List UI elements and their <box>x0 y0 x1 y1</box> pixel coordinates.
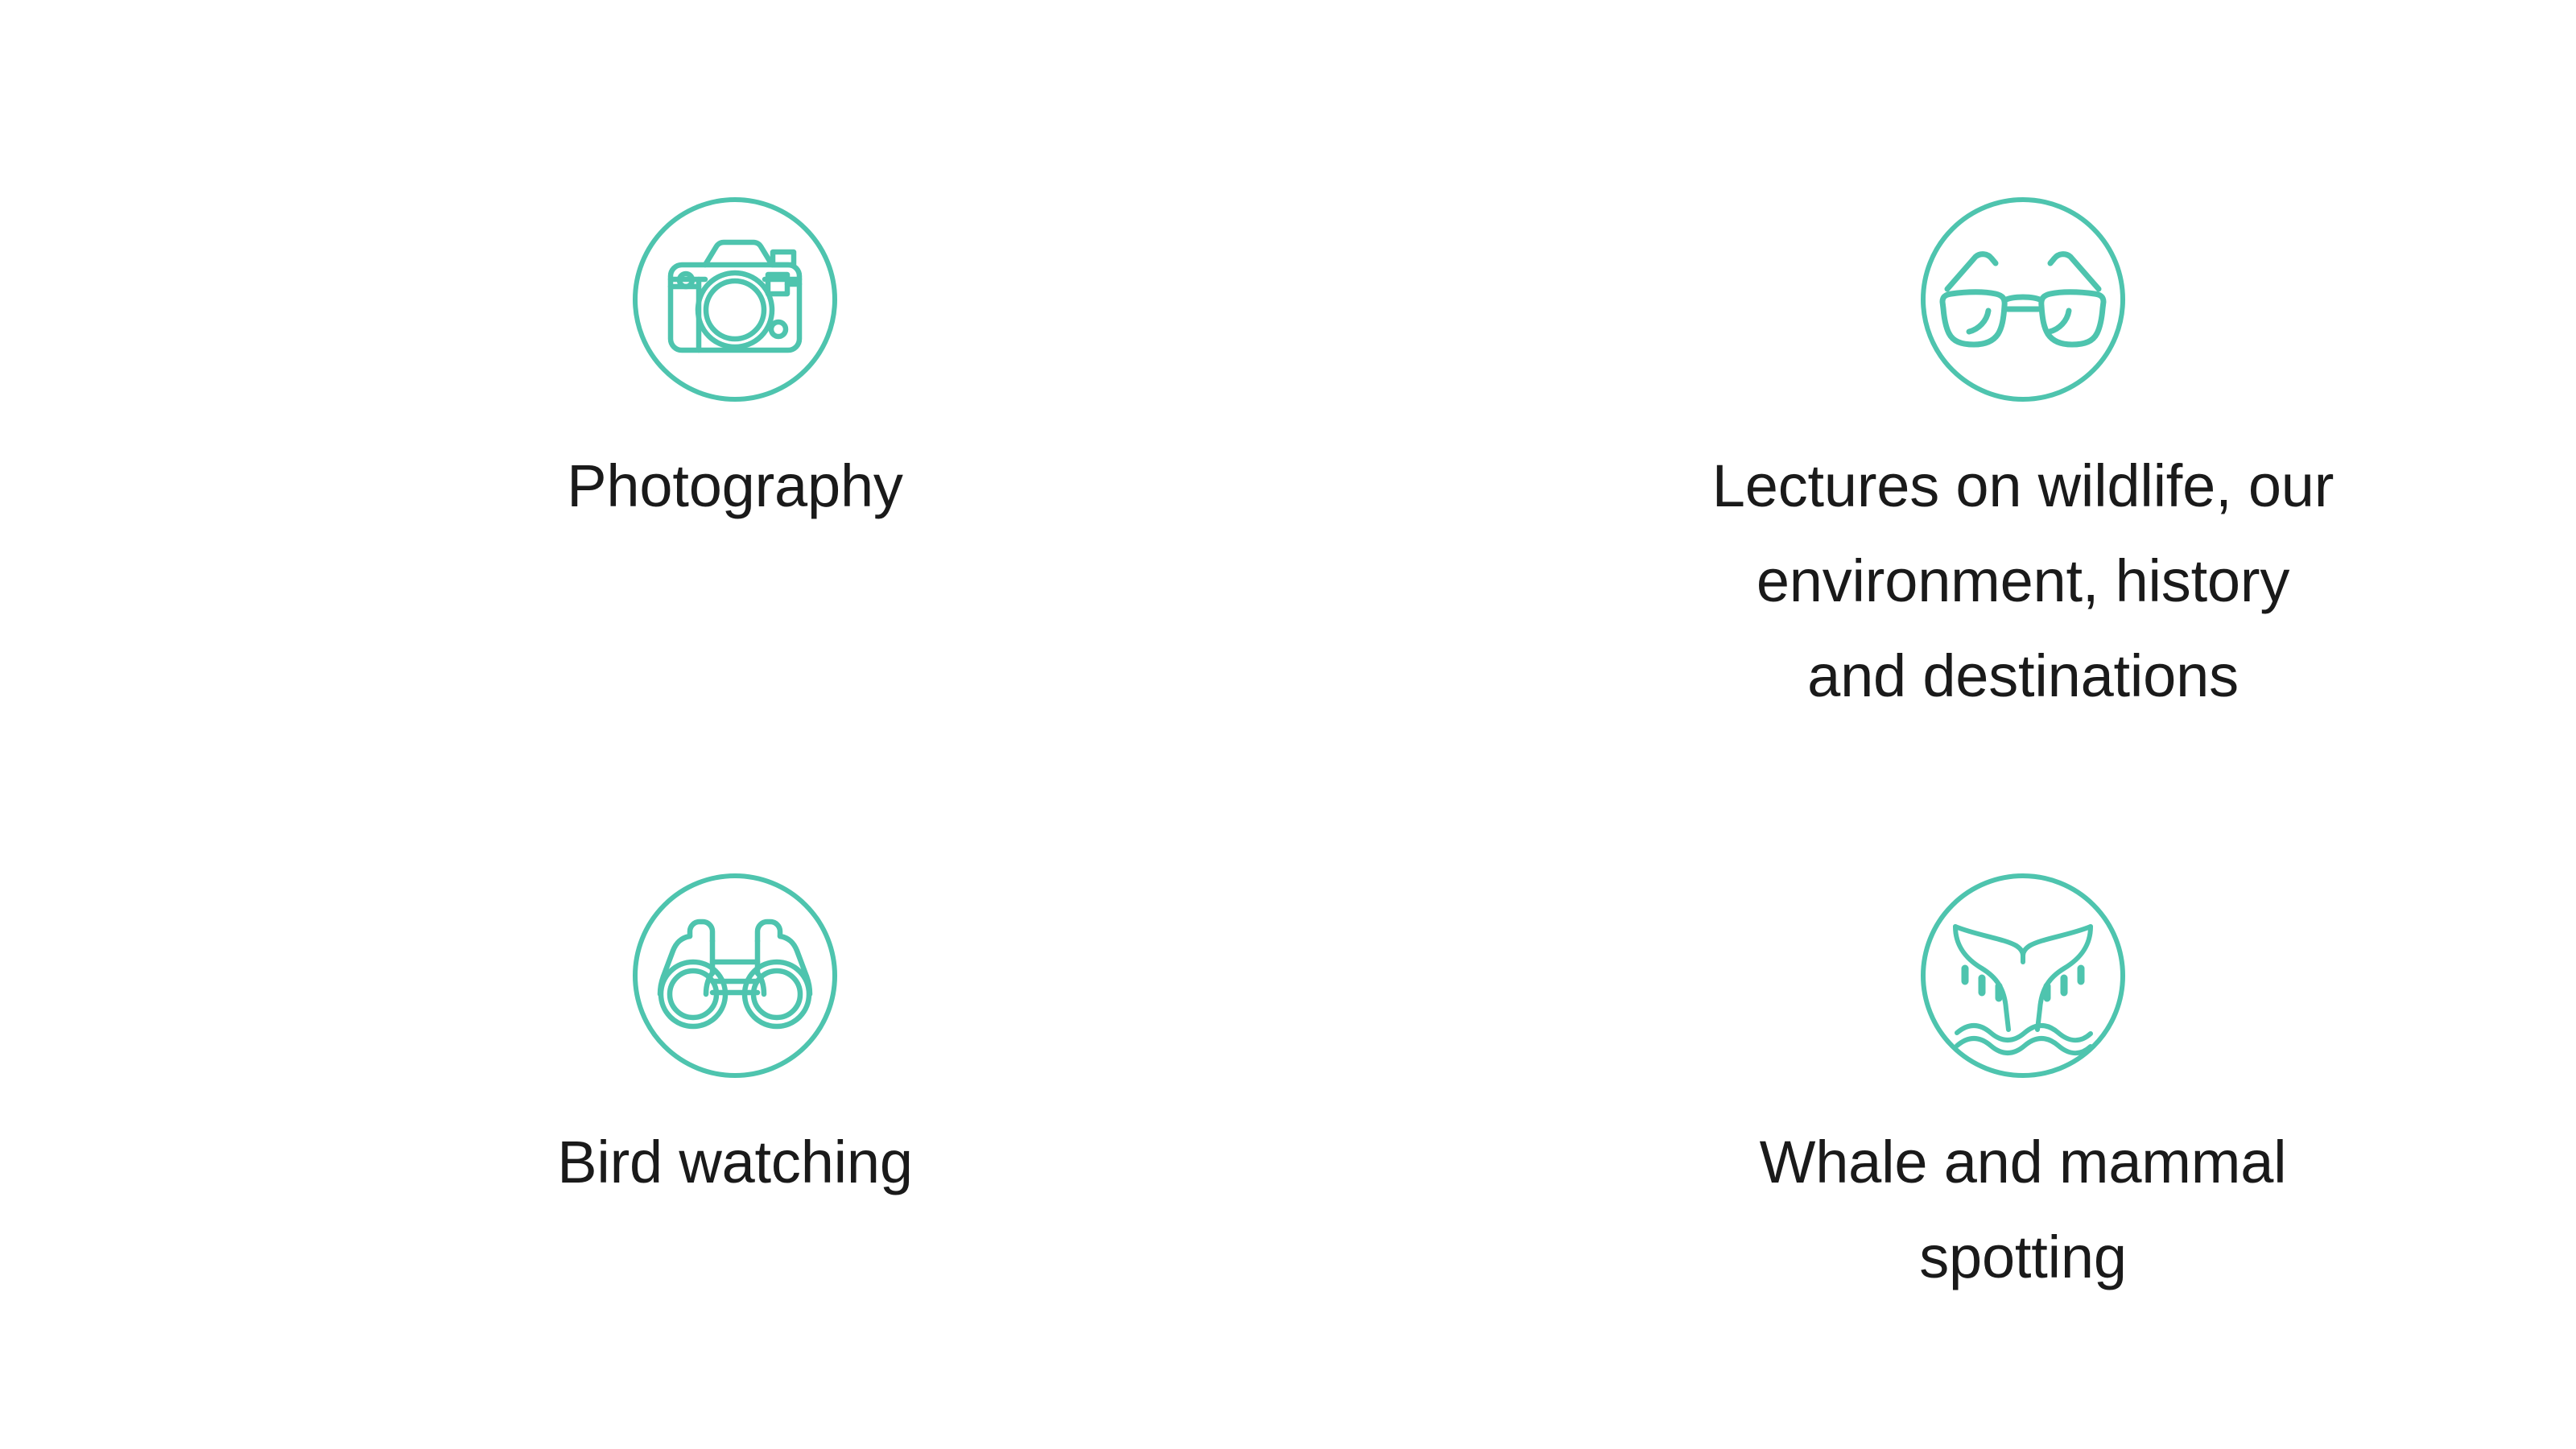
feature-caption-photography: Photography <box>567 439 902 534</box>
feature-grid-slide: Photography <box>0 0 2576 1449</box>
feature-cell-lectures: Lectures on wildlife, our environment, h… <box>1288 0 2576 724</box>
binoculars-icon <box>631 872 839 1080</box>
feature-caption-lectures: Lectures on wildlife, our environment, h… <box>1712 439 2334 724</box>
feature-caption-bird-watching: Bird watching <box>557 1115 913 1210</box>
whale-tail-icon <box>1919 872 2127 1080</box>
feature-cell-photography: Photography <box>0 0 1288 724</box>
feature-caption-whale-spotting: Whale and mammal spotting <box>1760 1115 2287 1305</box>
feature-grid: Photography <box>0 0 2576 1449</box>
glasses-icon <box>1919 196 2127 403</box>
feature-cell-whale-spotting: Whale and mammal spotting <box>1288 724 2576 1449</box>
camera-icon <box>631 196 839 403</box>
feature-cell-bird-watching: Bird watching <box>0 724 1288 1449</box>
